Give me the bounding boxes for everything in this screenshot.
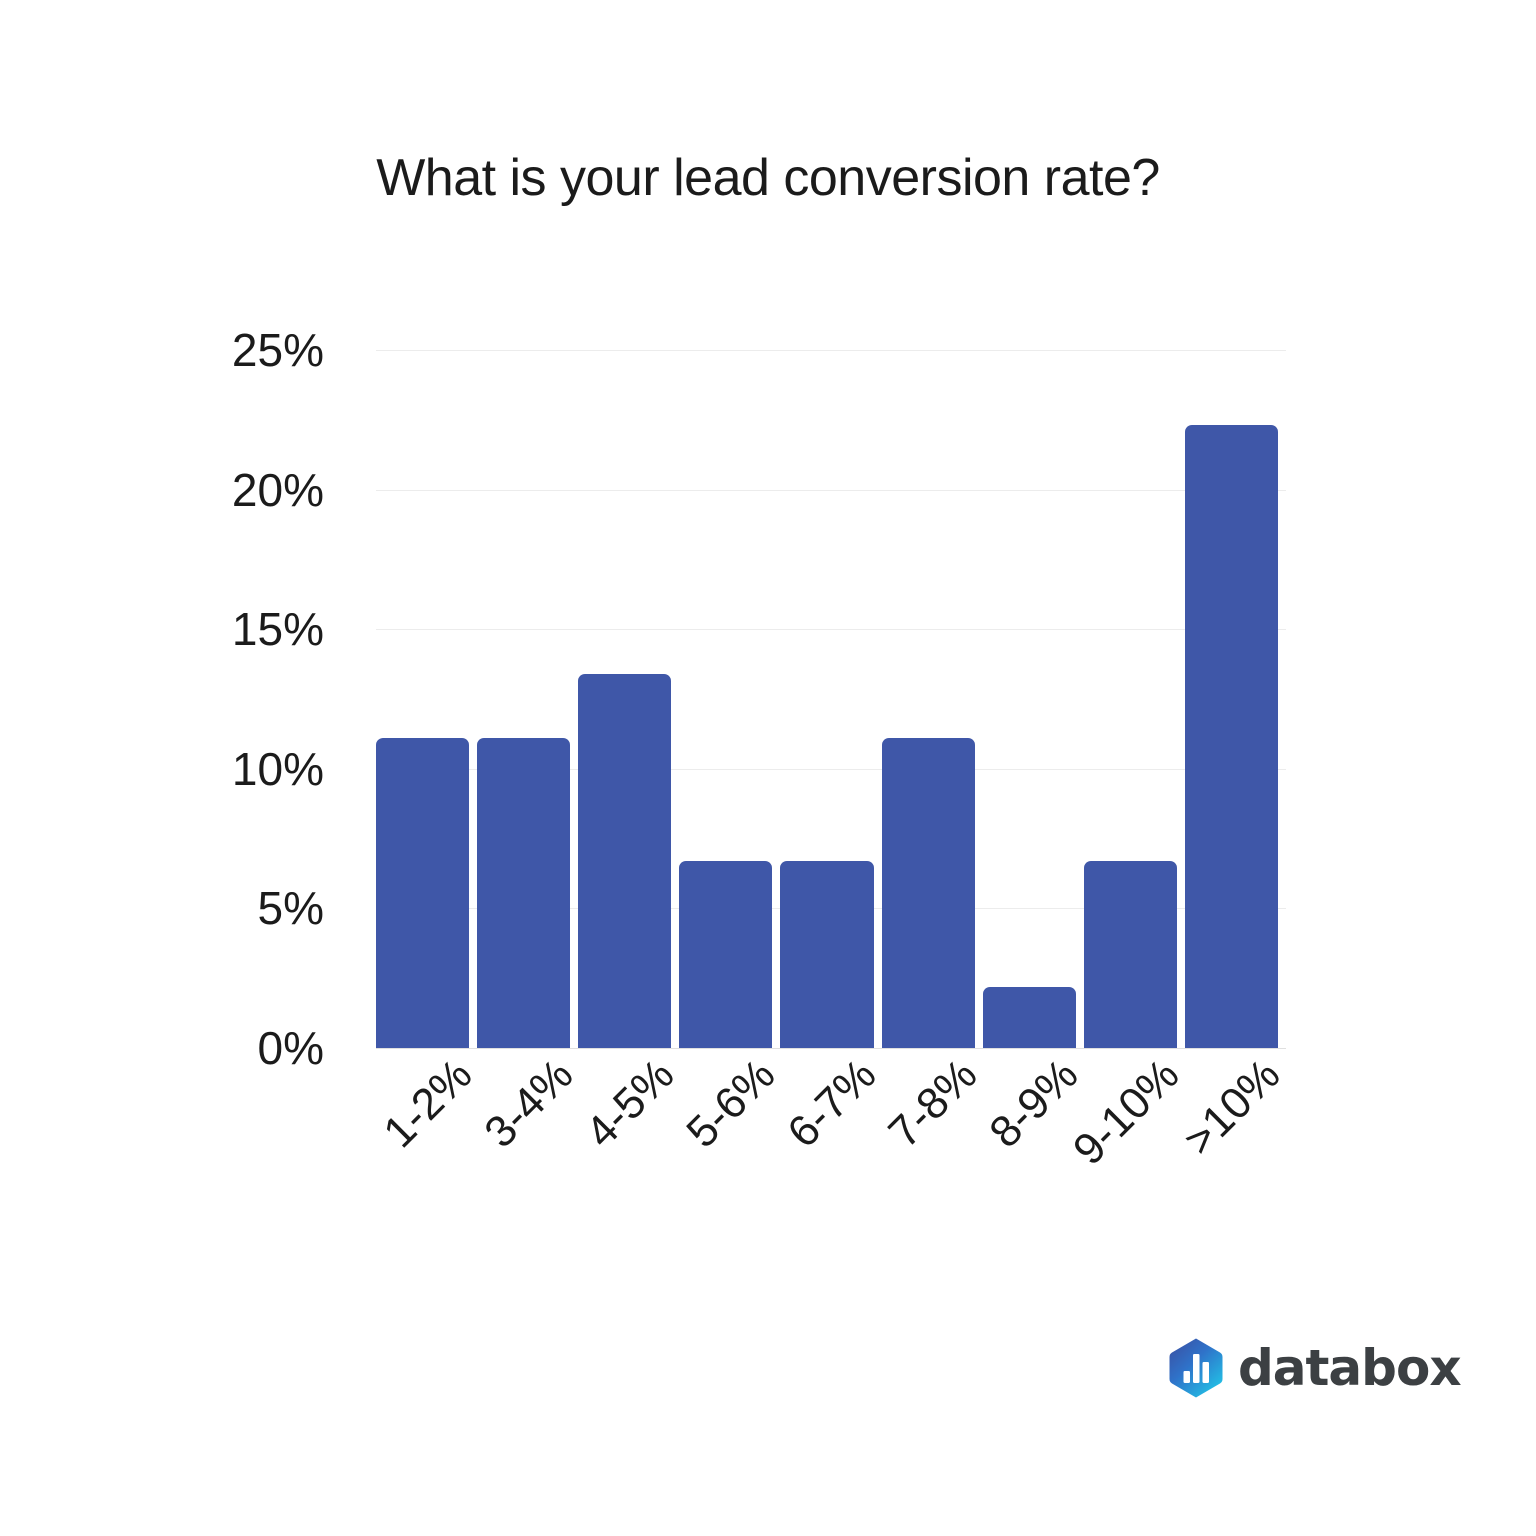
y-axis-tick-label: 20% [232,467,324,513]
bar[interactable] [679,861,772,1048]
databox-logo: databox [1168,1336,1461,1400]
y-axis-tick-label: 15% [232,606,324,652]
x-axis-tick-label-text: 7-8% [881,1052,985,1156]
bar[interactable] [1084,861,1177,1048]
y-axis-tick-label: 10% [232,746,324,792]
x-axis-tick-label-text: 6-7% [780,1052,884,1156]
bar[interactable] [780,861,873,1048]
gridline-0% [376,1048,1286,1049]
plot-area [376,350,1286,1048]
bar[interactable] [1185,425,1278,1048]
databox-hexagon-bar-chart-icon [1168,1337,1224,1399]
y-axis-tick-label: 25% [232,327,324,373]
bar[interactable] [983,987,1076,1048]
chart-figure: What is your lead conversion rate? 0%5%1… [0,0,1536,1536]
y-axis-tick-label: 0% [258,1025,324,1071]
x-axis-tick-label-text: 5-6% [679,1052,783,1156]
x-axis-tick-label-text: 3-4% [477,1052,581,1156]
bar[interactable] [882,738,975,1048]
x-axis: 1-2%3-4%4-5%5-6%6-7%7-8%8-9%9-10%>10% [376,1052,1286,1252]
bar[interactable] [578,674,671,1048]
x-axis-tick-label-text: 4-5% [578,1052,682,1156]
x-axis-tick-label-text: 1-2% [376,1052,480,1156]
bar-series [376,350,1286,1048]
x-axis-tick-label-text: >10% [1177,1052,1289,1164]
y-axis: 0%5%10%15%20%25% [150,350,350,1048]
databox-wordmark: databox [1238,1343,1461,1393]
y-axis-tick-label: 5% [258,885,324,931]
bar[interactable] [477,738,570,1048]
x-axis-tick-label-text: 9-10% [1066,1052,1187,1173]
page-title: What is your lead conversion rate? [0,148,1536,208]
bar[interactable] [376,738,469,1048]
